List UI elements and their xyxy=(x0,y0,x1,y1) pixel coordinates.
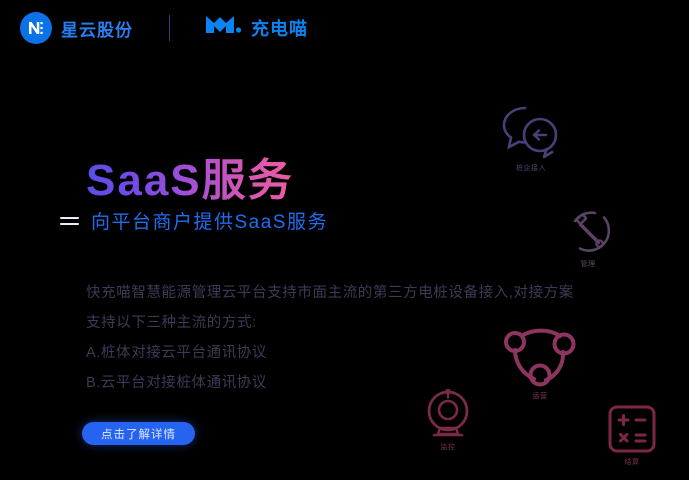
wrench-tool-icon xyxy=(563,208,613,256)
decor-item-device: 监控 xyxy=(422,389,474,452)
hamburger-lines-icon xyxy=(60,217,79,225)
brand-primary-label: 星云股份 xyxy=(61,16,133,41)
device-terminal-icon xyxy=(422,389,474,439)
decor-label-network: 运营 xyxy=(533,391,548,401)
brand-secondary[interactable]: 充电喵 xyxy=(204,13,308,44)
brand-primary[interactable]: 星云股份 xyxy=(20,12,133,44)
page-title: SaaS服务 xyxy=(86,157,294,205)
chat-bubbles-arrow-icon xyxy=(500,104,562,160)
decor-item-manage: 管理 xyxy=(563,208,613,269)
cat-ears-m-icon xyxy=(204,13,244,44)
learn-more-button[interactable]: 点击了解详情 xyxy=(82,422,195,445)
page-subtitle: 向平台商户提供SaaS服务 xyxy=(91,207,328,234)
decor-item-network: 运营 xyxy=(498,326,582,401)
page-header: 星云股份 充电喵 xyxy=(0,0,689,56)
calculator-icon xyxy=(606,404,658,454)
subtitle-row: 向平台商户提供SaaS服务 xyxy=(60,207,328,234)
header-divider xyxy=(169,15,170,41)
decor-item-access: 桩企接入 xyxy=(500,104,562,173)
decor-label-manage: 管理 xyxy=(581,259,596,269)
ne-monogram-icon xyxy=(20,12,52,44)
decor-item-settle: 结算 xyxy=(606,404,658,467)
decor-label-settle: 结算 xyxy=(625,457,640,467)
decor-label-access: 桩企接入 xyxy=(516,163,546,173)
decor-label-device: 监控 xyxy=(441,442,456,452)
brand-secondary-label: 充电喵 xyxy=(251,15,308,41)
network-nodes-icon xyxy=(498,326,582,388)
